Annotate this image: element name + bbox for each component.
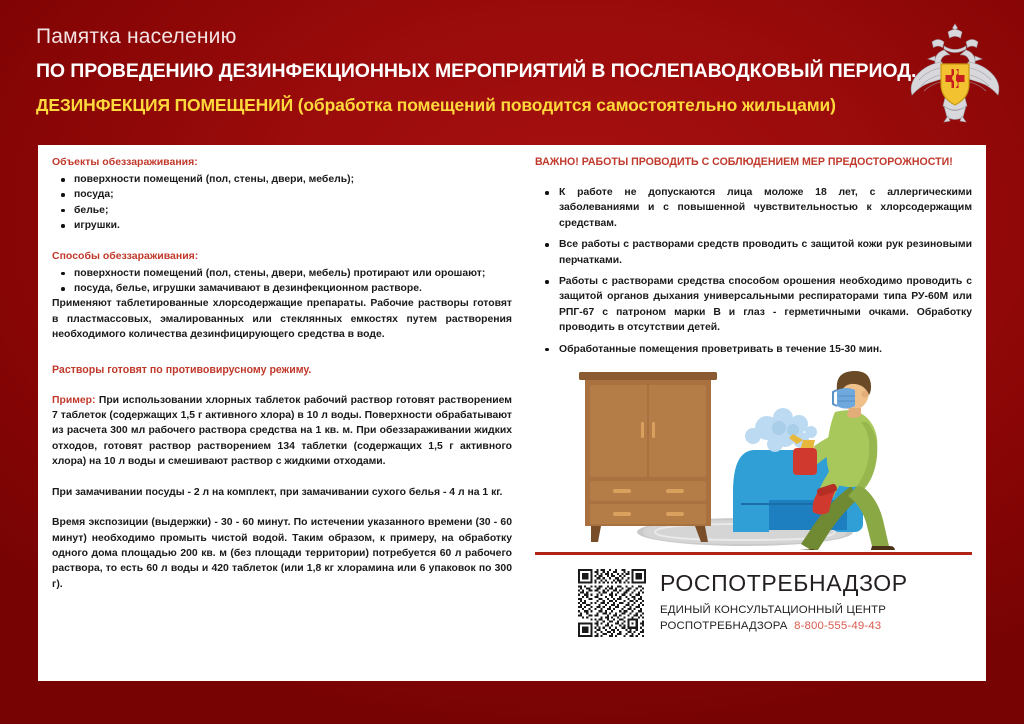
list-item: игрушки. bbox=[52, 218, 512, 233]
list-item: белье; bbox=[52, 203, 512, 218]
methods-heading: Способы обеззараживания: bbox=[52, 249, 512, 264]
rospotrebnadzor-text-block: РОСПОТРЕБНАДЗОР ЕДИНЫЙ КОНСУЛЬТАЦИОННЫЙ … bbox=[660, 569, 908, 634]
spacer bbox=[52, 234, 512, 249]
left-column: Объекты обеззараживания: поверхности пом… bbox=[52, 155, 512, 592]
warning-heading: ВАЖНО! РАБОТЫ ПРОВОДИТЬ С СОБЛЮДЕНИЕМ МЕ… bbox=[535, 155, 972, 170]
spacer bbox=[52, 500, 512, 515]
spacer bbox=[52, 343, 512, 363]
consultation-center-line-2: РОСПОТРЕБНАДЗОРА 8-800-555-49-43 bbox=[660, 618, 908, 634]
disinfecting-room-illustration bbox=[535, 360, 972, 550]
list-item: посуда; bbox=[52, 187, 512, 202]
spacer bbox=[52, 378, 512, 393]
header-line-3: ДЕЗИНФЕКЦИЯ ПОМЕЩЕНИЙ (обработка помещен… bbox=[36, 94, 1024, 116]
qr-code[interactable] bbox=[578, 569, 646, 637]
objects-heading: Объекты обеззараживания: bbox=[52, 155, 512, 170]
list-item: Обработанные помещения проветривать в те… bbox=[535, 342, 972, 357]
hotline-phone[interactable]: 8-800-555-49-43 bbox=[794, 620, 881, 632]
rospotrebnadzor-emblem-icon bbox=[904, 20, 1006, 126]
list-item: Работы с растворами средства способом ор… bbox=[535, 274, 972, 336]
header-line-2: ПО ПРОВЕДЕНИЮ ДЕЗИНФЕКЦИОННЫХ МЕРОПРИЯТИ… bbox=[36, 59, 1024, 83]
soaking-paragraph: При замачивании посуды - 2 л на комплект… bbox=[52, 485, 512, 500]
example-paragraph: Пример: При использовании хлорных таблет… bbox=[52, 393, 512, 470]
poster-root: Памятка населению ПО ПРОВЕДЕНИЮ ДЕЗИНФЕК… bbox=[0, 0, 1024, 724]
example-label: Пример: bbox=[52, 395, 95, 406]
precautions-list: К работе не допускаются лица моложе 18 л… bbox=[535, 185, 972, 357]
exposure-paragraph: Время экспозиции (выдержки) - 30 - 60 ми… bbox=[52, 515, 512, 592]
header-line-1: Памятка населению bbox=[36, 24, 1024, 50]
poster-header: Памятка населению ПО ПРОВЕДЕНИЮ ДЕЗИНФЕК… bbox=[0, 0, 1024, 146]
example-text: При использовании хлорных таблеток рабоч… bbox=[52, 395, 512, 468]
list-item: поверхности помещений (пол, стены, двери… bbox=[52, 172, 512, 187]
list-item: посуда, белье, игрушки замачивают в дези… bbox=[52, 281, 512, 296]
list-item: поверхности помещений (пол, стены, двери… bbox=[52, 266, 512, 281]
rospotrebnadzor-footer: РОСПОТРЕБНАДЗОР ЕДИНЫЙ КОНСУЛЬТАЦИОННЫЙ … bbox=[578, 569, 978, 637]
objects-list: поверхности помещений (пол, стены, двери… bbox=[52, 172, 512, 234]
spacer bbox=[52, 470, 512, 485]
methods-list: поверхности помещений (пол, стены, двери… bbox=[52, 266, 512, 297]
list-item: К работе не допускаются лица моложе 18 л… bbox=[535, 185, 972, 231]
spacer bbox=[535, 170, 972, 185]
content-panel: Объекты обеззараживания: поверхности пом… bbox=[38, 145, 986, 681]
org-genitive: РОСПОТРЕБНАДЗОРА bbox=[660, 620, 787, 632]
regime-heading: Растворы готовят по противовирусному реж… bbox=[52, 363, 512, 378]
right-column: ВАЖНО! РАБОТЫ ПРОВОДИТЬ С СОБЛЮДЕНИЕМ МЕ… bbox=[535, 155, 972, 363]
list-item: Все работы с растворами средств проводит… bbox=[535, 237, 972, 268]
consultation-center-line-1: ЕДИНЫЙ КОНСУЛЬТАЦИОННЫЙ ЦЕНТР bbox=[660, 602, 908, 618]
org-title: РОСПОТРЕБНАДЗОР bbox=[660, 570, 908, 597]
footer-divider bbox=[535, 552, 972, 555]
methods-paragraph: Применяют таблетированные хлорсодержащие… bbox=[52, 296, 512, 342]
